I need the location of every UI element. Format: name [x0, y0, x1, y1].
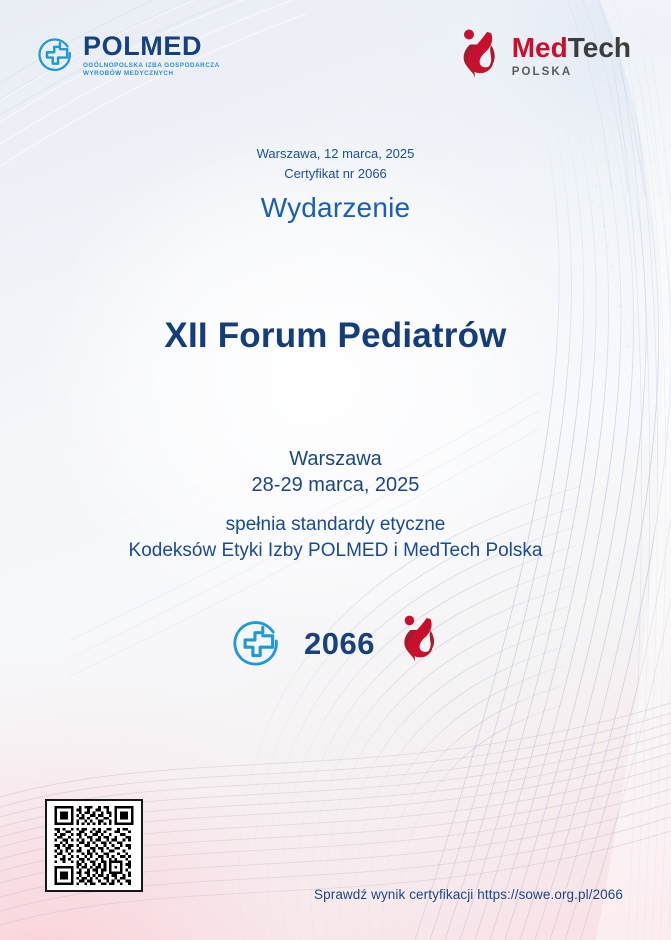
medtech-name-part1: Med [512, 32, 568, 63]
qr-code-verification[interactable] [45, 799, 143, 892]
event-place: Warszawa [0, 446, 671, 472]
compliance-statement: spełnia standardy etyczne Kodeksów Etyki… [0, 512, 671, 564]
verification-link[interactable]: Sprawdź wynik certyfikacji https://sowe.… [314, 887, 623, 902]
polmed-wordmark: POLMED OGÓLNOPOLSKA IZBA GOSPODARCZA WYR… [83, 33, 220, 78]
event-title: XII Forum Pediatrów [0, 316, 671, 356]
issue-line: Warszawa, 12 marca, 2025 [0, 144, 671, 164]
certificate-content: POLMED OGÓLNOPOLSKA IZBA GOSPODARCZA WYR… [0, 0, 671, 940]
medtech-subtitle: POLSKA [512, 67, 631, 79]
medtech-name: MedTech [512, 32, 631, 63]
event-dates: 28-29 marca, 2025 [0, 472, 671, 498]
seal-row: 2066 [0, 612, 671, 675]
medtech-wordmark: MedTech POLSKA [512, 28, 631, 79]
event-place-date: Warszawa 28-29 marca, 2025 [0, 446, 671, 498]
statement-line1: spełnia standardy etyczne [0, 512, 671, 538]
certificate-page: POLMED OGÓLNOPOLSKA IZBA GOSPODARCZA WYR… [0, 0, 671, 940]
medtech-flame-icon [456, 28, 502, 89]
polmed-subtitle-line1: OGÓLNOPOLSKA IZBA GOSPODARCZA [83, 63, 220, 69]
polmed-name: POLMED [83, 33, 220, 60]
seal-polmed-circle-cross-icon [230, 615, 282, 672]
seal-medtech-flame-icon [397, 612, 441, 675]
polmed-subtitle-line2: WYROBÓW MEDYCZNYCH [83, 71, 220, 77]
polmed-logo: POLMED OGÓLNOPOLSKA IZBA GOSPODARCZA WYR… [36, 33, 220, 78]
certificate-number-line: Certyfikat nr 2066 [0, 164, 671, 184]
certificate-meta: Warszawa, 12 marca, 2025 Certyfikat nr 2… [0, 144, 671, 184]
medtech-name-part2: Tech [568, 32, 631, 63]
statement-line2: Kodeksów Etyki Izby POLMED i MedTech Pol… [0, 538, 671, 564]
seal-certificate-number: 2066 [304, 626, 375, 662]
medtech-logo: MedTech POLSKA [456, 28, 631, 89]
polmed-circle-cross-icon [36, 34, 74, 77]
kicker-label: Wydarzenie [0, 192, 671, 224]
